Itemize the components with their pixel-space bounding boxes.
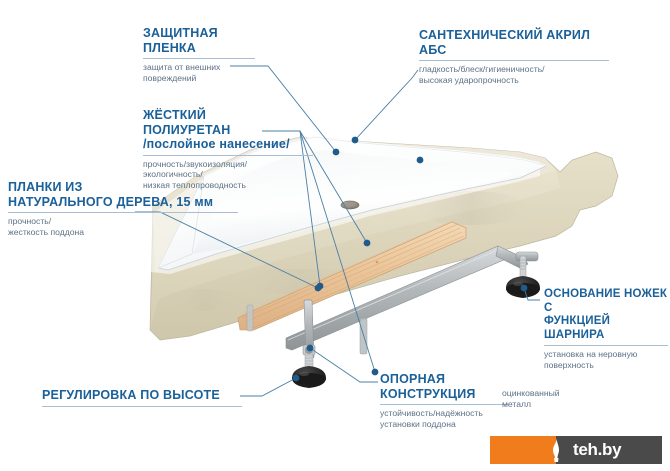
- callout-galvanized-metal: оцинкованный металл: [502, 388, 598, 409]
- callout-wooden-slats-sub: прочность/ жесткость поддона: [8, 216, 238, 237]
- callout-height-adjustment-heading: РЕГУЛИРОВКА ПО ВЫСОТЕ: [42, 388, 242, 403]
- callout-hinged-foot-base-heading: ОСНОВАНИЕ НОЖЕК С ФУНКЦИЕЙ ШАРНИРА: [544, 288, 668, 342]
- callout-hinged-foot-base-sub: установка на неровную поверхность: [544, 349, 668, 370]
- callout-galvanized-metal-sub: оцинкованный металл: [502, 388, 598, 409]
- callout-divider: [380, 404, 508, 405]
- callout-protective-film-heading: ЗАЩИТНАЯ ПЛЕНКА: [143, 26, 255, 55]
- logo-flame-icon: [548, 438, 563, 462]
- callout-divider: [42, 406, 242, 407]
- logo-orange-block: [490, 436, 556, 464]
- callout-height-adjustment: РЕГУЛИРОВКА ПО ВЫСОТЕ: [42, 388, 242, 410]
- callout-divider: [143, 58, 255, 59]
- logo-dark-block: teh.by: [556, 436, 662, 464]
- callout-protective-film: ЗАЩИТНАЯ ПЛЕНКА защита от внешних повреж…: [143, 26, 255, 83]
- callout-divider: [544, 345, 668, 346]
- callout-support-frame-sub: устойчивость/надёжность установки поддон…: [380, 408, 508, 429]
- callout-wooden-slats-heading: ПЛАНКИ ИЗ НАТУРАЛЬНОГО ДЕРЕВА, 15 мм: [8, 180, 238, 209]
- front-adjustable-foot: [292, 345, 326, 388]
- callout-wooden-slats: ПЛАНКИ ИЗ НАТУРАЛЬНОГО ДЕРЕВА, 15 мм про…: [8, 180, 238, 237]
- callout-rigid-polyurethane: ЖЁСТКИЙ ПОЛИУРЕТАН /послойное нанесение/…: [143, 108, 313, 190]
- callout-divider: [8, 212, 238, 213]
- watermark-logo: teh.by: [490, 436, 662, 464]
- callout-protective-film-sub: защита от внешних повреждений: [143, 62, 255, 83]
- callout-divider: [143, 155, 313, 156]
- callout-support-frame: ОПОРНАЯ КОНСТРУКЦИЯ устойчивость/надёжно…: [380, 372, 508, 429]
- callout-divider: [419, 60, 609, 61]
- callout-hinged-foot-base: ОСНОВАНИЕ НОЖЕК С ФУНКЦИЕЙ ШАРНИРА устан…: [544, 288, 668, 370]
- callout-rigid-polyurethane-heading: ЖЁСТКИЙ ПОЛИУРЕТАН /послойное нанесение/: [143, 108, 313, 152]
- callout-support-frame-heading: ОПОРНАЯ КОНСТРУКЦИЯ: [380, 372, 508, 401]
- callout-sanitary-acrylic: САНТЕХНИЧЕСКИЙ АКРИЛ АБС гладкость/блеск…: [419, 28, 609, 85]
- infographic-canvas: ЗАЩИТНАЯ ПЛЕНКА защита от внешних повреж…: [0, 0, 670, 471]
- logo-text: teh.by: [573, 440, 621, 460]
- callout-sanitary-acrylic-sub: гладкость/блеск/гигиеничность/ высокая у…: [419, 64, 609, 85]
- callout-sanitary-acrylic-heading: САНТЕХНИЧЕСКИЙ АКРИЛ АБС: [419, 28, 609, 57]
